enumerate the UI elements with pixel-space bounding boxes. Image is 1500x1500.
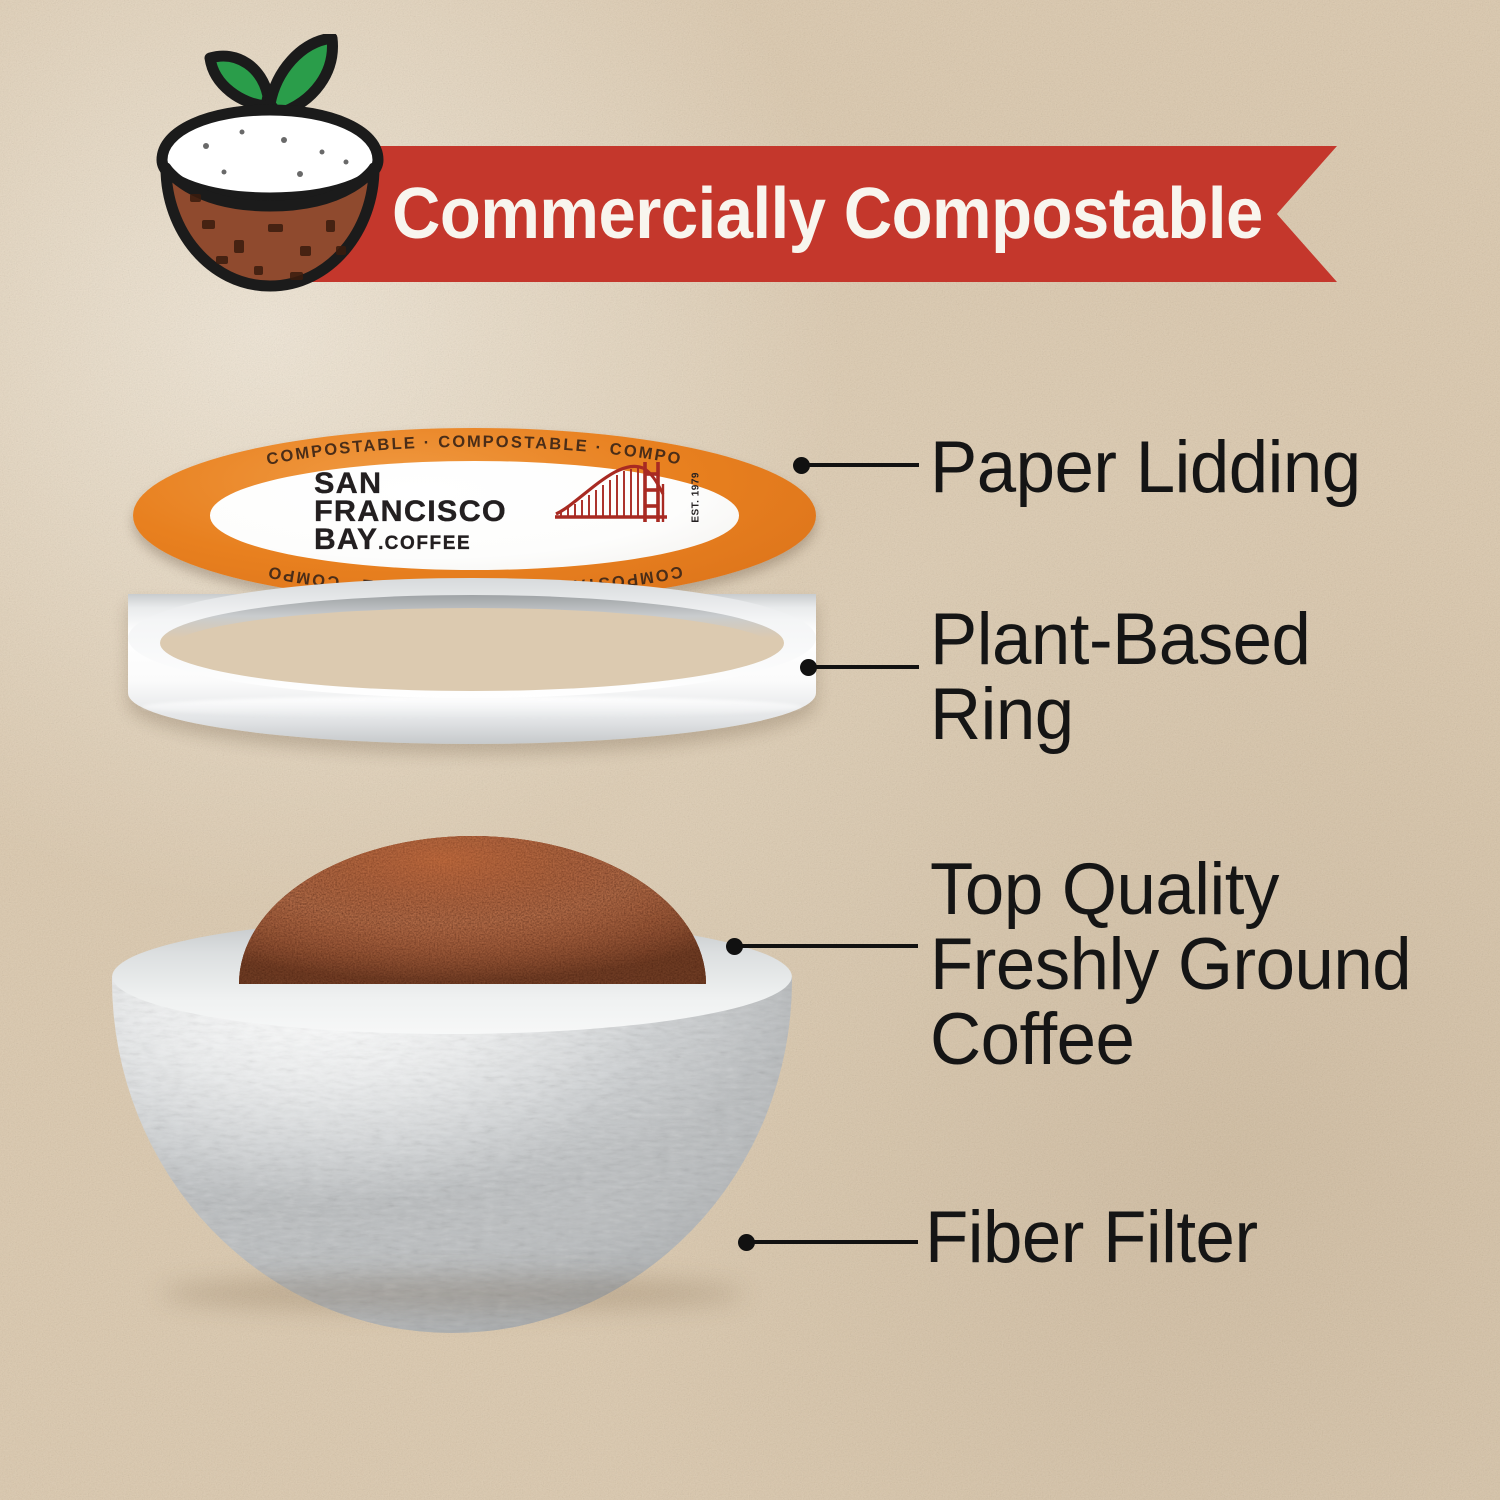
plant-based-ring-component [128, 578, 816, 770]
paper-lid-component: COMPOSTABLE · COMPOSTABLE · COMPO COMPOS… [133, 428, 816, 603]
grounds-surface [239, 836, 706, 984]
callout-label-plant-based-ring: Plant-Based Ring [930, 602, 1310, 752]
grounds-granule-texture [239, 836, 706, 984]
logo-word-bay: BAY [314, 526, 378, 554]
logo-line-francisco: FRANCISCO [314, 498, 676, 526]
callout-label-fiber-filter: Fiber Filter [925, 1200, 1258, 1275]
leader-line-top-quality-coffee [726, 936, 922, 956]
leader-rule [806, 463, 919, 467]
exploded-pod-diagram: COMPOSTABLE · COMPOSTABLE · COMPO COMPOS… [0, 0, 1500, 1500]
callout-label-paper-lidding: Paper Lidding [930, 430, 1361, 505]
filter-drop-shadow [160, 1275, 745, 1312]
infographic-canvas: Commercially Compostable [0, 0, 1500, 1500]
leader-line-paper-lidding [793, 455, 923, 475]
ring-bore-opening [171, 608, 774, 688]
leader-rule [739, 944, 918, 948]
leader-line-plant-based-ring [800, 657, 923, 677]
logo-word-coffee: COFFEE [385, 535, 472, 553]
established-year-text: EST. 1979 [691, 472, 702, 523]
san-francisco-bay-coffee-logo: EST. 1979 SAN FRANCISCO BAY . COFFEE [314, 470, 669, 559]
ring-highlight [142, 696, 802, 718]
coffee-grounds-mound [239, 836, 706, 984]
leader-rule [751, 1240, 918, 1244]
logo-line-san: SAN [314, 470, 676, 498]
leader-line-fiber-filter [738, 1232, 922, 1252]
callout-label-top-quality-coffee: Top Quality Freshly Ground Coffee [930, 852, 1411, 1078]
leader-rule [813, 665, 919, 669]
